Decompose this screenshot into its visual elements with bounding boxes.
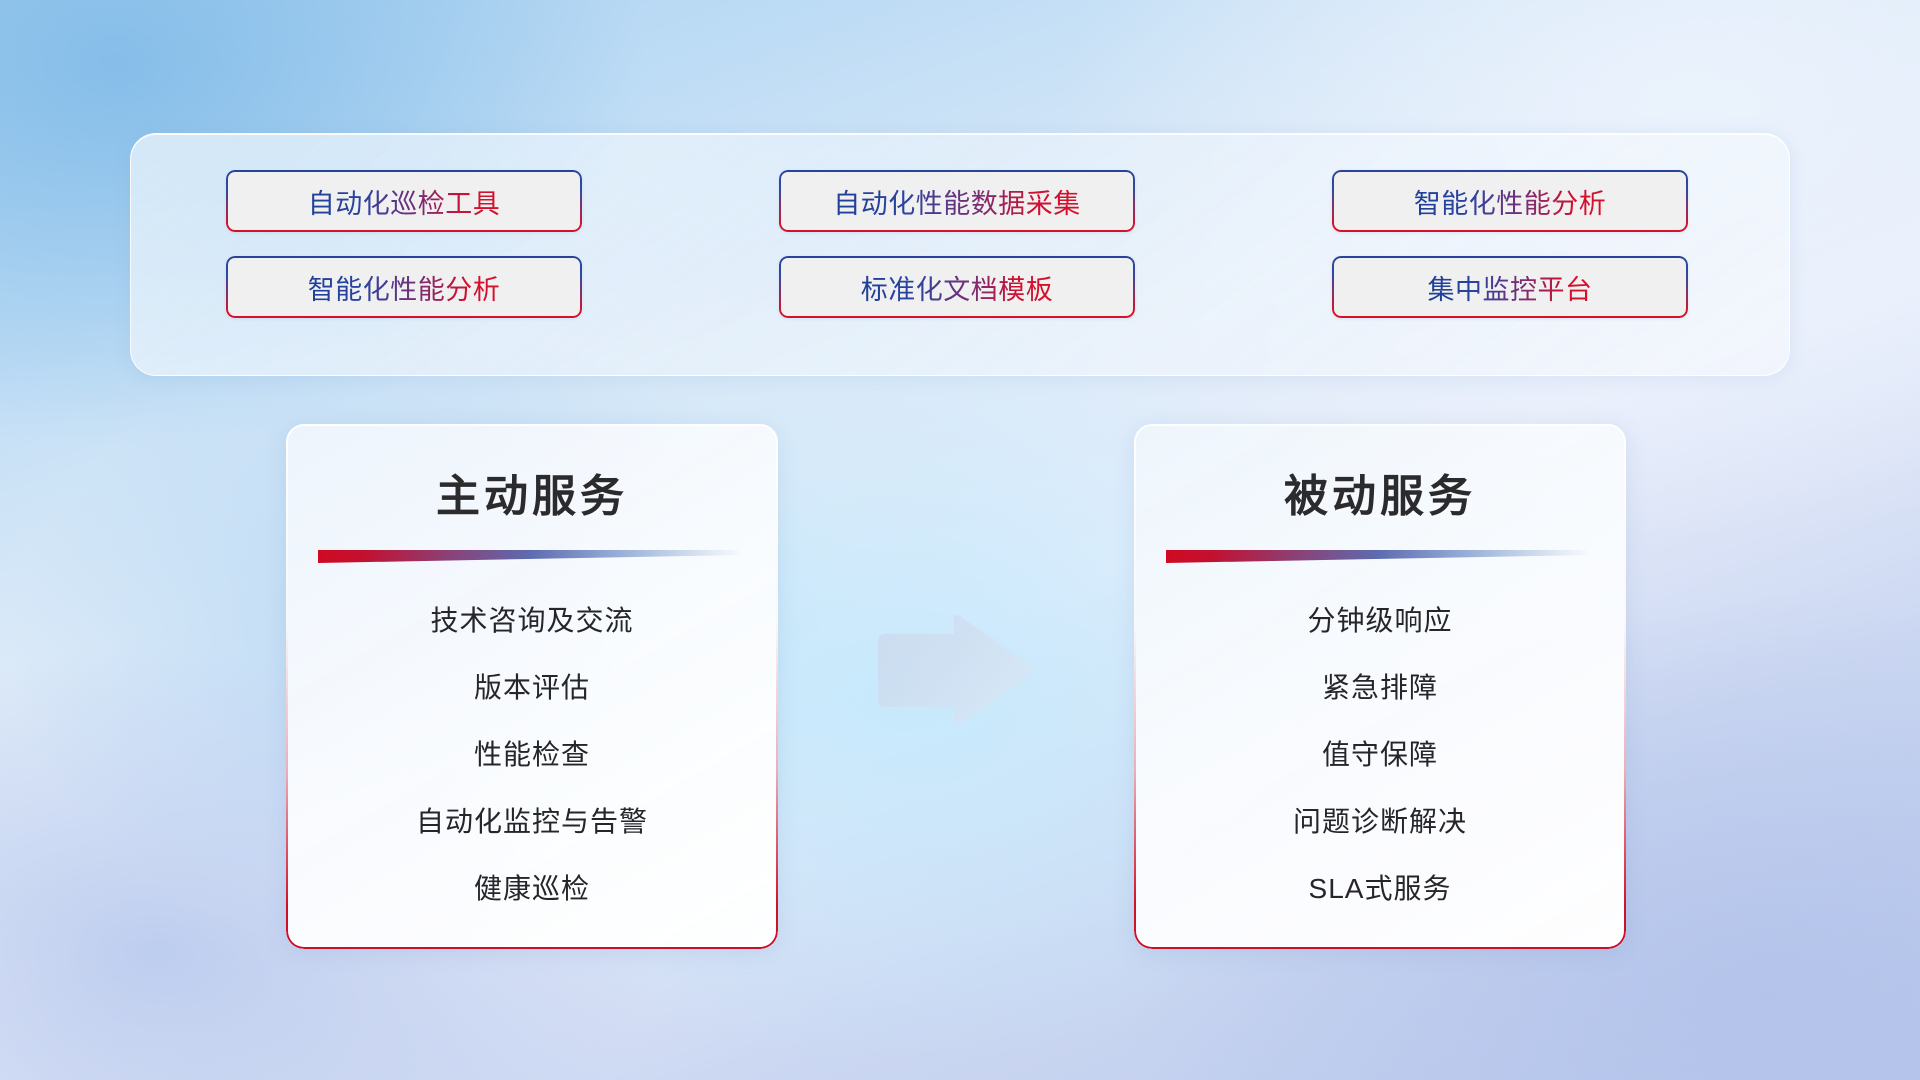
capability-box-1[interactable]: 自动化巡检工具 (226, 170, 582, 232)
capability-box-label: 智能化性能分析 (308, 268, 501, 307)
service-item-list: 技术咨询及交流 版本评估 性能检查 自动化监控与告警 健康巡检 (286, 599, 778, 907)
capability-box-label: 标准化文档模板 (861, 268, 1054, 307)
capability-panel: 自动化巡检工具 自动化性能数据采集 智能化性能分析 智能化性能分析 标准化文档模… (130, 133, 1790, 376)
arrow-right-icon (870, 612, 1034, 730)
capability-box-6[interactable]: 集中监控平台 (1332, 256, 1688, 318)
service-list-item: 自动化监控与告警 (416, 800, 648, 840)
service-list-item: 健康巡检 (474, 867, 590, 907)
title-divider (1166, 550, 1590, 563)
service-list-item: SLA式服务 (1309, 867, 1452, 907)
service-list-item: 版本评估 (474, 666, 590, 706)
service-list-item: 性能检查 (474, 733, 590, 773)
capability-grid: 自动化巡检工具 自动化性能数据采集 智能化性能分析 智能化性能分析 标准化文档模… (226, 170, 1700, 318)
title-divider (318, 550, 742, 563)
service-list-item: 分钟级响应 (1307, 599, 1452, 639)
capability-box-5[interactable]: 标准化文档模板 (779, 256, 1135, 318)
service-card-title: 被动服务 (1134, 460, 1626, 524)
service-list-item: 值守保障 (1322, 733, 1438, 773)
capability-box-2[interactable]: 自动化性能数据采集 (779, 170, 1135, 232)
capability-box-label: 智能化性能分析 (1414, 182, 1607, 221)
service-item-list: 分钟级响应 紧急排障 值守保障 问题诊断解决 SLA式服务 (1134, 599, 1626, 907)
service-list-item: 紧急排障 (1322, 666, 1438, 706)
service-list-item: 问题诊断解决 (1293, 800, 1467, 840)
service-list-item: 技术咨询及交流 (430, 599, 633, 639)
capability-box-4[interactable]: 智能化性能分析 (226, 256, 582, 318)
slide-canvas: 自动化巡检工具 自动化性能数据采集 智能化性能分析 智能化性能分析 标准化文档模… (0, 0, 1920, 1080)
capability-box-label: 自动化巡检工具 (308, 182, 501, 221)
service-card-title: 主动服务 (286, 460, 778, 524)
service-card-reactive[interactable]: 被动服务 分钟级响应 紧急排障 值守保障 问题诊断解决 SLA式服务 (1134, 424, 1626, 949)
capability-box-label: 自动化性能数据采集 (833, 182, 1081, 221)
capability-box-3[interactable]: 智能化性能分析 (1332, 170, 1688, 232)
service-card-proactive[interactable]: 主动服务 技术咨询及交流 版本评估 性能检查 自动化监控与告警 健康巡检 (286, 424, 778, 949)
capability-box-label: 集中监控平台 (1428, 268, 1593, 307)
